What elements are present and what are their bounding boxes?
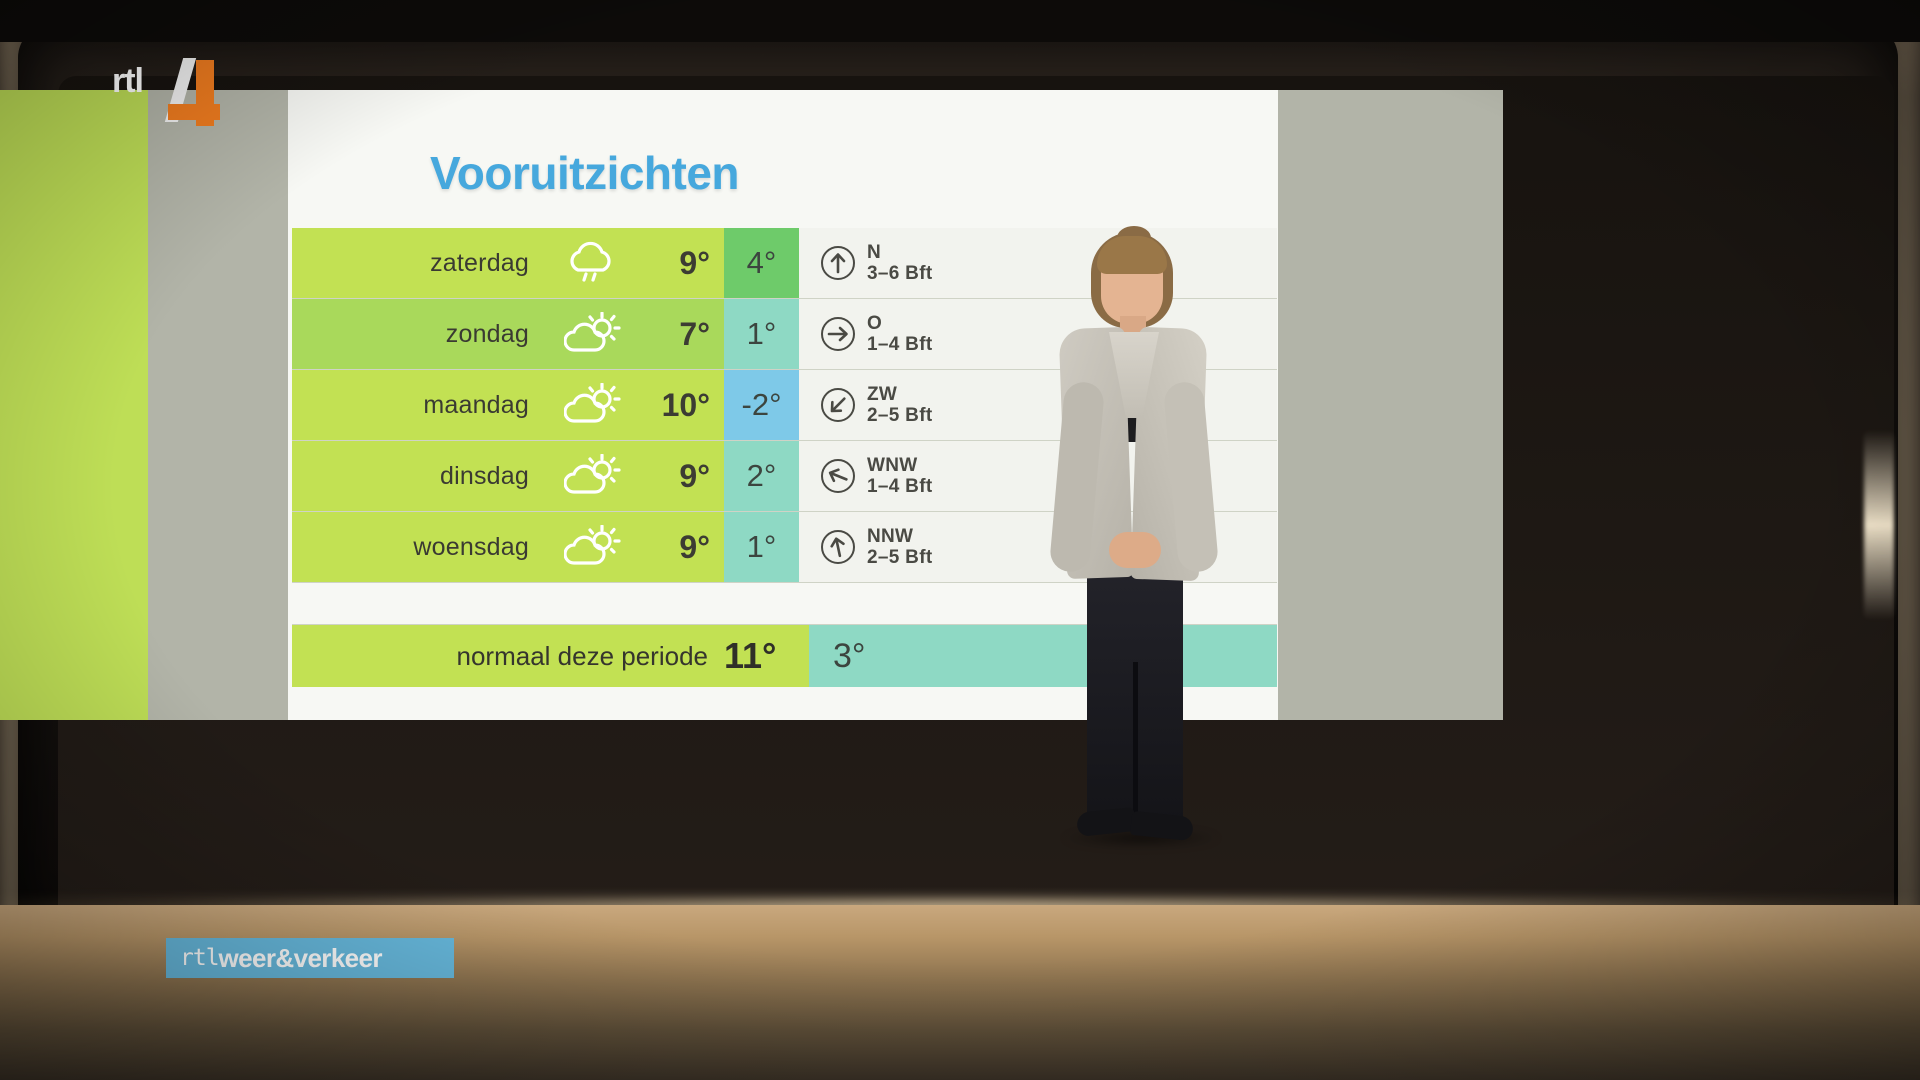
- banner-rtl-text: rtl: [180, 945, 219, 971]
- presenter-hands: [1109, 532, 1161, 568]
- banner-title-text: weer&verkeer: [219, 943, 382, 974]
- programme-banner: rtl weer&verkeer: [166, 938, 454, 978]
- forecast-wind-text: WNW1–4 Bft: [867, 455, 932, 498]
- rtl4-logo: rtl: [112, 52, 222, 128]
- forecast-min-temp: 2°: [724, 441, 799, 511]
- wind-force: 2–5 Bft: [867, 405, 932, 426]
- wall-grey-panel-right: [1278, 90, 1503, 720]
- rtl-wordmark: rtl: [112, 62, 143, 101]
- arrow-left-icon: [821, 317, 855, 351]
- wind-direction: WNW: [867, 455, 932, 476]
- studio-light-pillar: [1864, 430, 1894, 620]
- sun-cloud-icon: [547, 299, 639, 369]
- studio-floor: [0, 905, 1920, 1080]
- wind-direction: NNW: [867, 526, 932, 547]
- forecast-min-temp: 1°: [724, 299, 799, 369]
- forecast-day-label: zaterdag: [292, 228, 547, 298]
- rtl-logo-four-bar: [168, 104, 220, 120]
- wind-force: 1–4 Bft: [867, 476, 932, 497]
- sun-cloud-icon: [547, 441, 639, 511]
- forecast-max-temp: 9°: [639, 512, 724, 582]
- forecast-min-temp: 4°: [724, 228, 799, 298]
- presenter: [1005, 232, 1255, 852]
- sun-cloud-icon: [547, 370, 639, 440]
- forecast-min-temp: 1°: [724, 512, 799, 582]
- wind-direction: ZW: [867, 384, 932, 405]
- arrow-down-icon: [821, 530, 855, 564]
- arrow-up-right-icon: [821, 388, 855, 422]
- forecast-day-label: maandag: [292, 370, 547, 440]
- forecast-wind-text: ZW2–5 Bft: [867, 384, 932, 427]
- wall-green-panel: [0, 90, 148, 720]
- arrow-right-icon: [821, 459, 855, 493]
- arrow-down-icon: [821, 246, 855, 280]
- forecast-day-label: dinsdag: [292, 441, 547, 511]
- wall-grey-panel-left: [148, 90, 288, 720]
- forecast-max-temp: 9°: [639, 228, 724, 298]
- presenter-hair-front: [1097, 236, 1167, 274]
- wind-direction: N: [867, 242, 932, 263]
- forecast-day-label: woensdag: [292, 512, 547, 582]
- broadcast-screenshot: Vooruitzichten zaterdag9°4°N3–6 Bftzonda…: [0, 0, 1920, 1080]
- page-title: Vooruitzichten: [430, 146, 1030, 200]
- wind-direction: O: [867, 313, 932, 334]
- presenter-leg-gap: [1133, 662, 1138, 824]
- sun-cloud-icon: [547, 512, 639, 582]
- normal-period-max: 11°: [724, 625, 809, 687]
- forecast-max-temp: 9°: [639, 441, 724, 511]
- studio-top-band: [0, 0, 1920, 42]
- forecast-wind-text: O1–4 Bft: [867, 313, 932, 356]
- cloud-rain-icon: [547, 228, 639, 298]
- normal-period-label: normaal deze periode: [292, 625, 724, 687]
- forecast-day-label: zondag: [292, 299, 547, 369]
- wind-force: 1–4 Bft: [867, 334, 932, 355]
- forecast-max-temp: 10°: [639, 370, 724, 440]
- forecast-min-temp: -2°: [724, 370, 799, 440]
- forecast-wind-text: N3–6 Bft: [867, 242, 932, 285]
- wind-force: 3–6 Bft: [867, 263, 932, 284]
- forecast-max-temp: 7°: [639, 299, 724, 369]
- forecast-wind-text: NNW2–5 Bft: [867, 526, 932, 569]
- wind-force: 2–5 Bft: [867, 547, 932, 568]
